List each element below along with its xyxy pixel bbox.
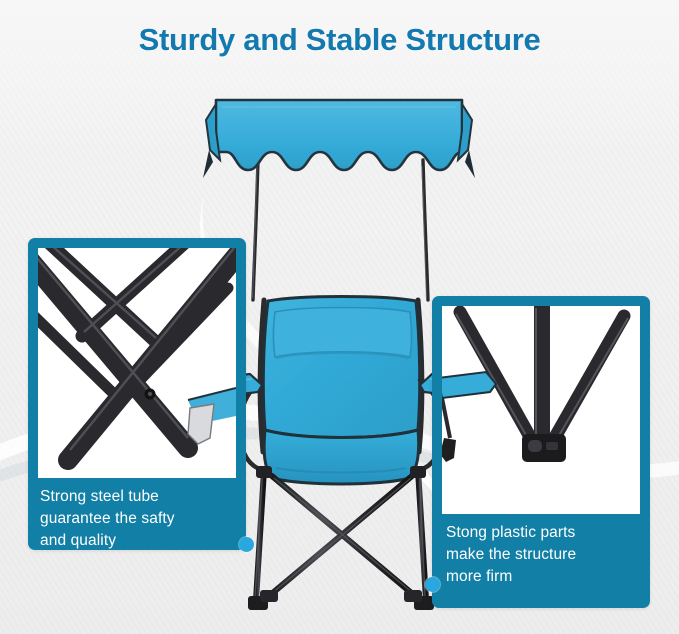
caption-line: make the structure [446,544,646,566]
caption-line: guarantee the safty [40,508,240,530]
callout-photo-steel-tubes [38,248,236,478]
caption-line: Stong plastic parts [446,522,646,544]
caption-line: and quality [40,530,240,552]
page-title: Sturdy and Stable Structure [0,22,679,58]
canopy-support-poles [253,160,428,300]
callout-connector-dot-left [239,537,254,552]
callout-connector-dot-right [425,577,440,592]
callout-panel-left[interactable]: Strong steel tube guarantee the safty an… [28,238,246,550]
steel-tube-crossing-closeup [38,248,236,478]
infographic-canvas: Strong steel tube guarantee the safty an… [0,0,679,634]
callout-caption-right: Stong plastic parts make the structure m… [446,522,646,588]
plastic-feet [248,590,434,610]
plastic-joint-closeup [442,306,640,514]
caption-line: Strong steel tube [40,486,240,508]
seat-cushion [264,430,419,484]
x-frame-legs [256,470,426,600]
callout-photo-plastic-joint [442,306,640,514]
seat-back-fabric [263,297,419,438]
callout-panel-right[interactable]: Stong plastic parts make the structure m… [432,296,650,608]
canopy-pole-highlight [253,166,427,298]
caption-line: more firm [446,566,646,588]
callout-caption-left: Strong steel tube guarantee the safty an… [40,486,240,552]
canopy-shade [216,100,462,170]
